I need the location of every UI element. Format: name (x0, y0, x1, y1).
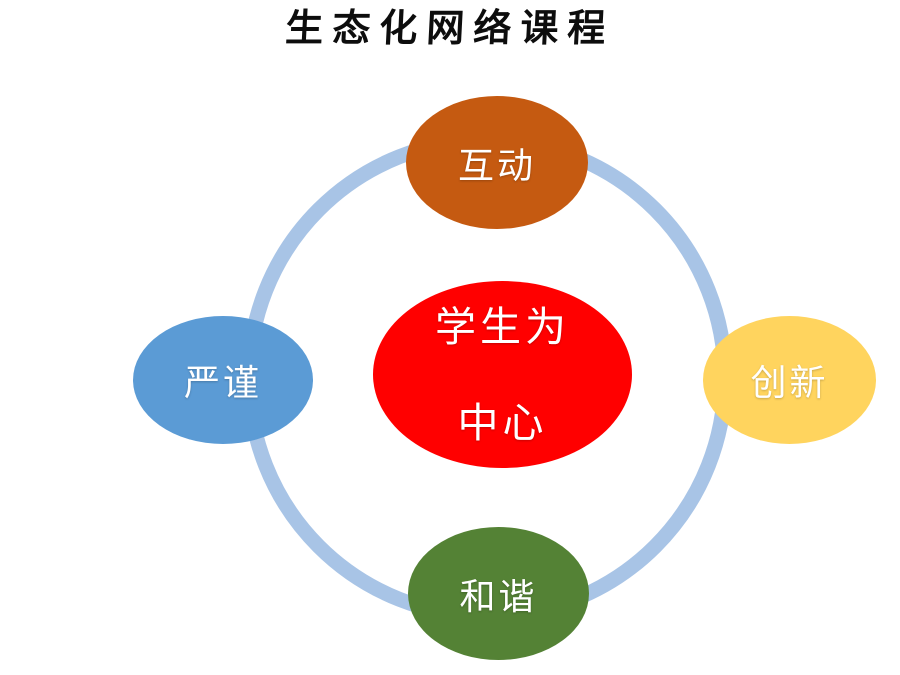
node-right-innovation[interactable]: 创新 (703, 316, 876, 444)
node-center-label: 学生为中心 (435, 303, 570, 447)
node-bottom-label: 和谐 (459, 568, 537, 620)
node-right-label: 创新 (750, 354, 828, 406)
node-center-student-centered[interactable]: 学生为中心 (373, 281, 632, 468)
node-bottom-harmony[interactable]: 和谐 (408, 527, 589, 660)
slide-canvas: 生态化网络课程 严谨 互动 创新 和谐 学生为中心 (0, 0, 900, 675)
node-left-rigorous[interactable]: 严谨 (133, 316, 313, 444)
node-center-label-line1: 学生为 (435, 303, 570, 351)
node-center-label-line2: 中心 (435, 399, 570, 447)
node-top-interaction[interactable]: 互动 (406, 96, 588, 229)
node-left-label: 严谨 (184, 354, 262, 406)
node-top-label: 互动 (458, 137, 536, 189)
